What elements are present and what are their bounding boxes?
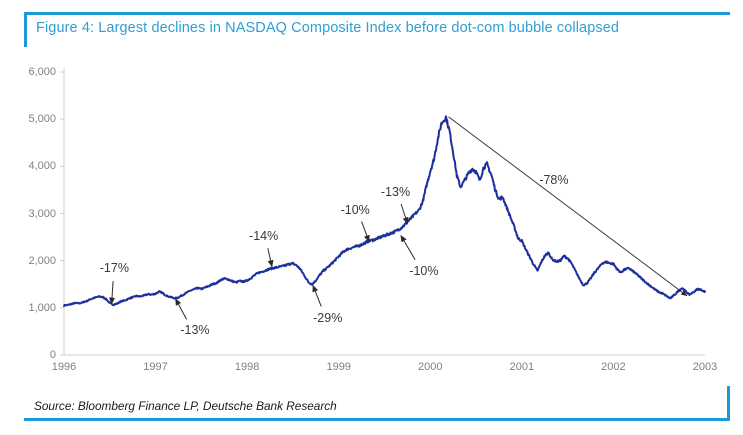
figure-source: Source: Bloomberg Finance LP, Deutsche B…	[34, 399, 337, 413]
y-axis-tick-label: 3,000	[12, 208, 56, 220]
chart-annotation-label: -10%	[409, 264, 438, 278]
x-axis-tick-label: 1998	[222, 361, 272, 373]
y-axis-tick-label: 6,000	[12, 66, 56, 78]
chart-series	[64, 116, 705, 306]
chart-annotation-label: -78%	[539, 173, 568, 187]
chart-annotation-label: -13%	[180, 323, 209, 337]
y-axis-tick-label: 4,000	[12, 160, 56, 172]
x-axis-tick-label: 2001	[497, 361, 547, 373]
chart-annotation-label: -29%	[313, 311, 342, 325]
chart-annotation-label: -17%	[100, 261, 129, 275]
chart-annotation-label: -10%	[341, 203, 370, 217]
chart-axes	[60, 68, 705, 355]
x-axis-tick-label: 1996	[39, 361, 89, 373]
chart-annotation-label: -13%	[381, 185, 410, 199]
x-axis-tick-label: 1997	[131, 361, 181, 373]
x-axis-tick-label: 2003	[680, 361, 730, 373]
y-axis-tick-label: 2,000	[12, 255, 56, 267]
x-axis-tick-label: 2002	[588, 361, 638, 373]
x-axis-tick-label: 1999	[314, 361, 364, 373]
x-axis-tick-label: 2000	[405, 361, 455, 373]
figure-container: Figure 4: Largest declines in NASDAQ Com…	[0, 0, 743, 435]
chart-annotation-label: -14%	[249, 229, 278, 243]
y-axis-tick-label: 5,000	[12, 113, 56, 125]
y-axis-tick-label: 1,000	[12, 302, 56, 314]
y-axis-tick-label: 0	[12, 349, 56, 361]
